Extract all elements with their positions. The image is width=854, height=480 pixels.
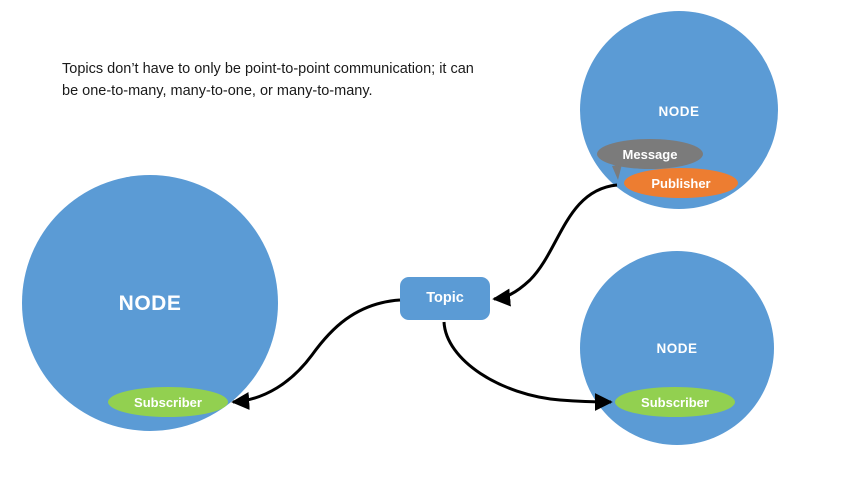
- topic-box[interactable]: [400, 277, 490, 320]
- message-ellipse: [597, 139, 703, 169]
- publisher-ellipse[interactable]: [624, 168, 738, 198]
- subscriber-ellipse-right[interactable]: [615, 387, 735, 417]
- subscriber-ellipse-left[interactable]: [108, 387, 228, 417]
- caption-text: Topics don’t have to only be point-to-po…: [62, 58, 482, 102]
- diagram-canvas: Topics don’t have to only be point-to-po…: [0, 0, 854, 480]
- arrow-publisher-to-topic: [494, 185, 617, 299]
